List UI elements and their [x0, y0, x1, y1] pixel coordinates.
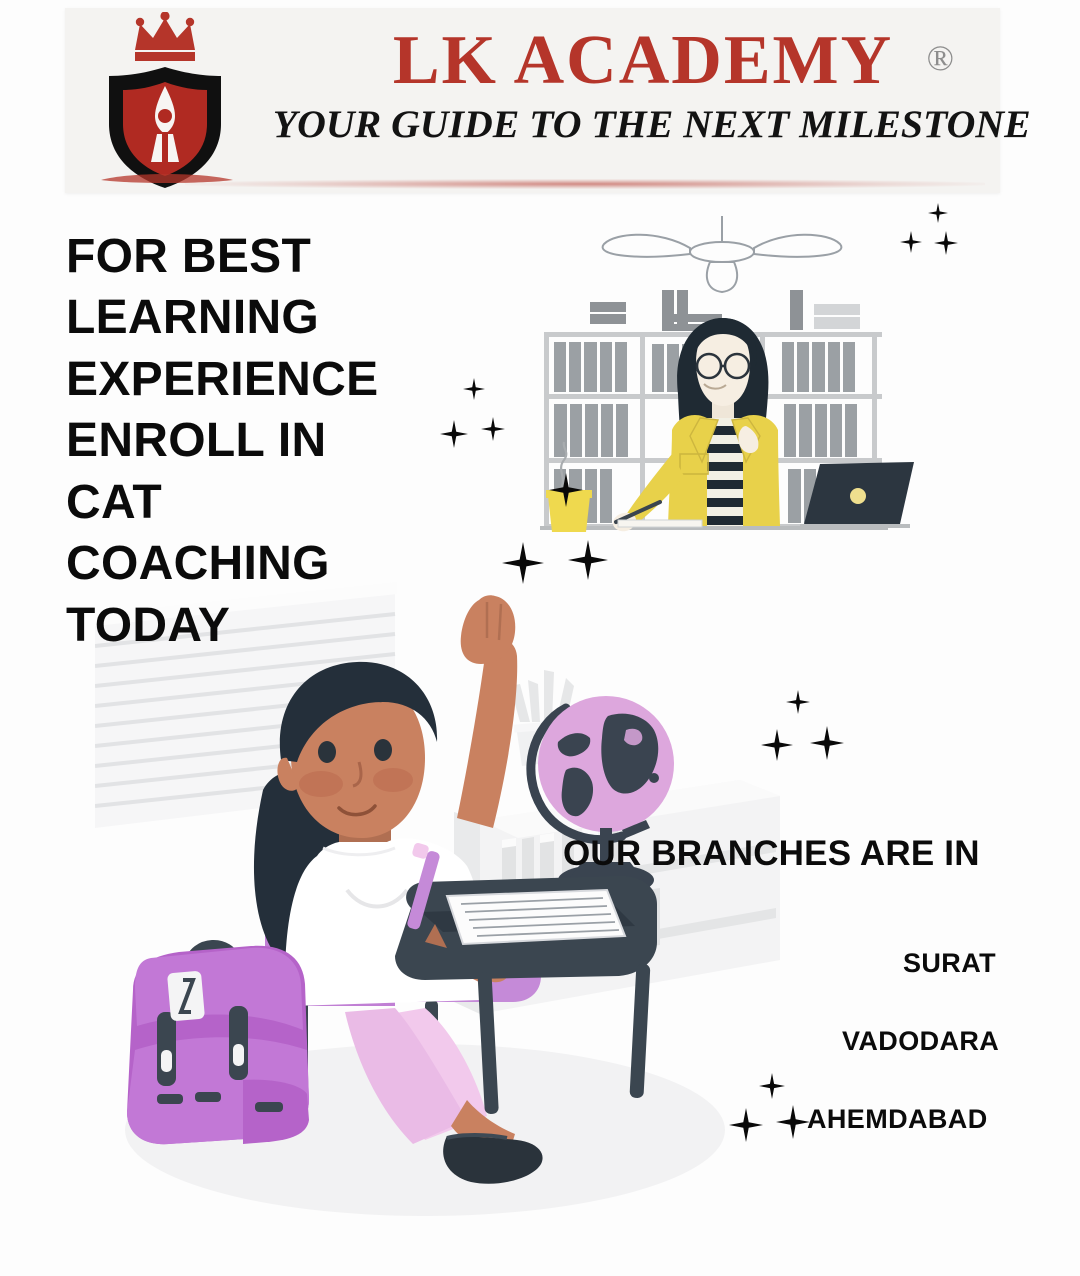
header-banner: LK ACADEMY ® YOUR GUIDE TO THE NEXT MILE… — [65, 8, 1000, 193]
branches-heading: OUR BRANCHES ARE IN — [563, 834, 980, 874]
laptop-icon — [800, 462, 914, 528]
brand-tagline: YOUR GUIDE TO THE NEXT MILESTONE — [273, 102, 1003, 147]
student-illustration — [95, 560, 815, 1220]
notebook-icon — [447, 890, 625, 944]
headline-line-5: COACHING — [66, 533, 486, 594]
page-title: FOR BEST LEARNING EXPERIENCE ENROLL IN C… — [66, 226, 486, 656]
registered-trademark-icon: ® — [927, 40, 954, 76]
headline-line-6: TODAY — [66, 595, 486, 656]
branch-city-ahemdabad: AHEMDABAD — [807, 1104, 988, 1135]
ceiling-fan-icon — [603, 216, 842, 292]
headline-line-0: FOR BEST — [66, 226, 486, 287]
headline-line-1: LEARNING — [66, 287, 486, 348]
branch-city-surat: SURAT — [903, 948, 996, 979]
woman-librarian — [613, 318, 780, 531]
backpack-icon — [127, 946, 309, 1144]
poster-canvas: LK ACADEMY ® YOUR GUIDE TO THE NEXT MILE… — [0, 0, 1080, 1276]
sparkle-star-icon — [810, 726, 844, 760]
brand-title: LK ACADEMY — [280, 26, 996, 96]
headline-line-2: EXPERIENCE — [66, 349, 486, 410]
librarian-illustration — [532, 214, 952, 544]
banner-accent-swoosh — [185, 179, 985, 189]
headline-line-3: ENROLL IN — [66, 410, 486, 471]
lk-academy-shield-crown-logo — [83, 12, 268, 192]
branch-city-vadodara: VADODARA — [842, 1026, 999, 1057]
headline-line-4: CAT — [66, 472, 486, 533]
